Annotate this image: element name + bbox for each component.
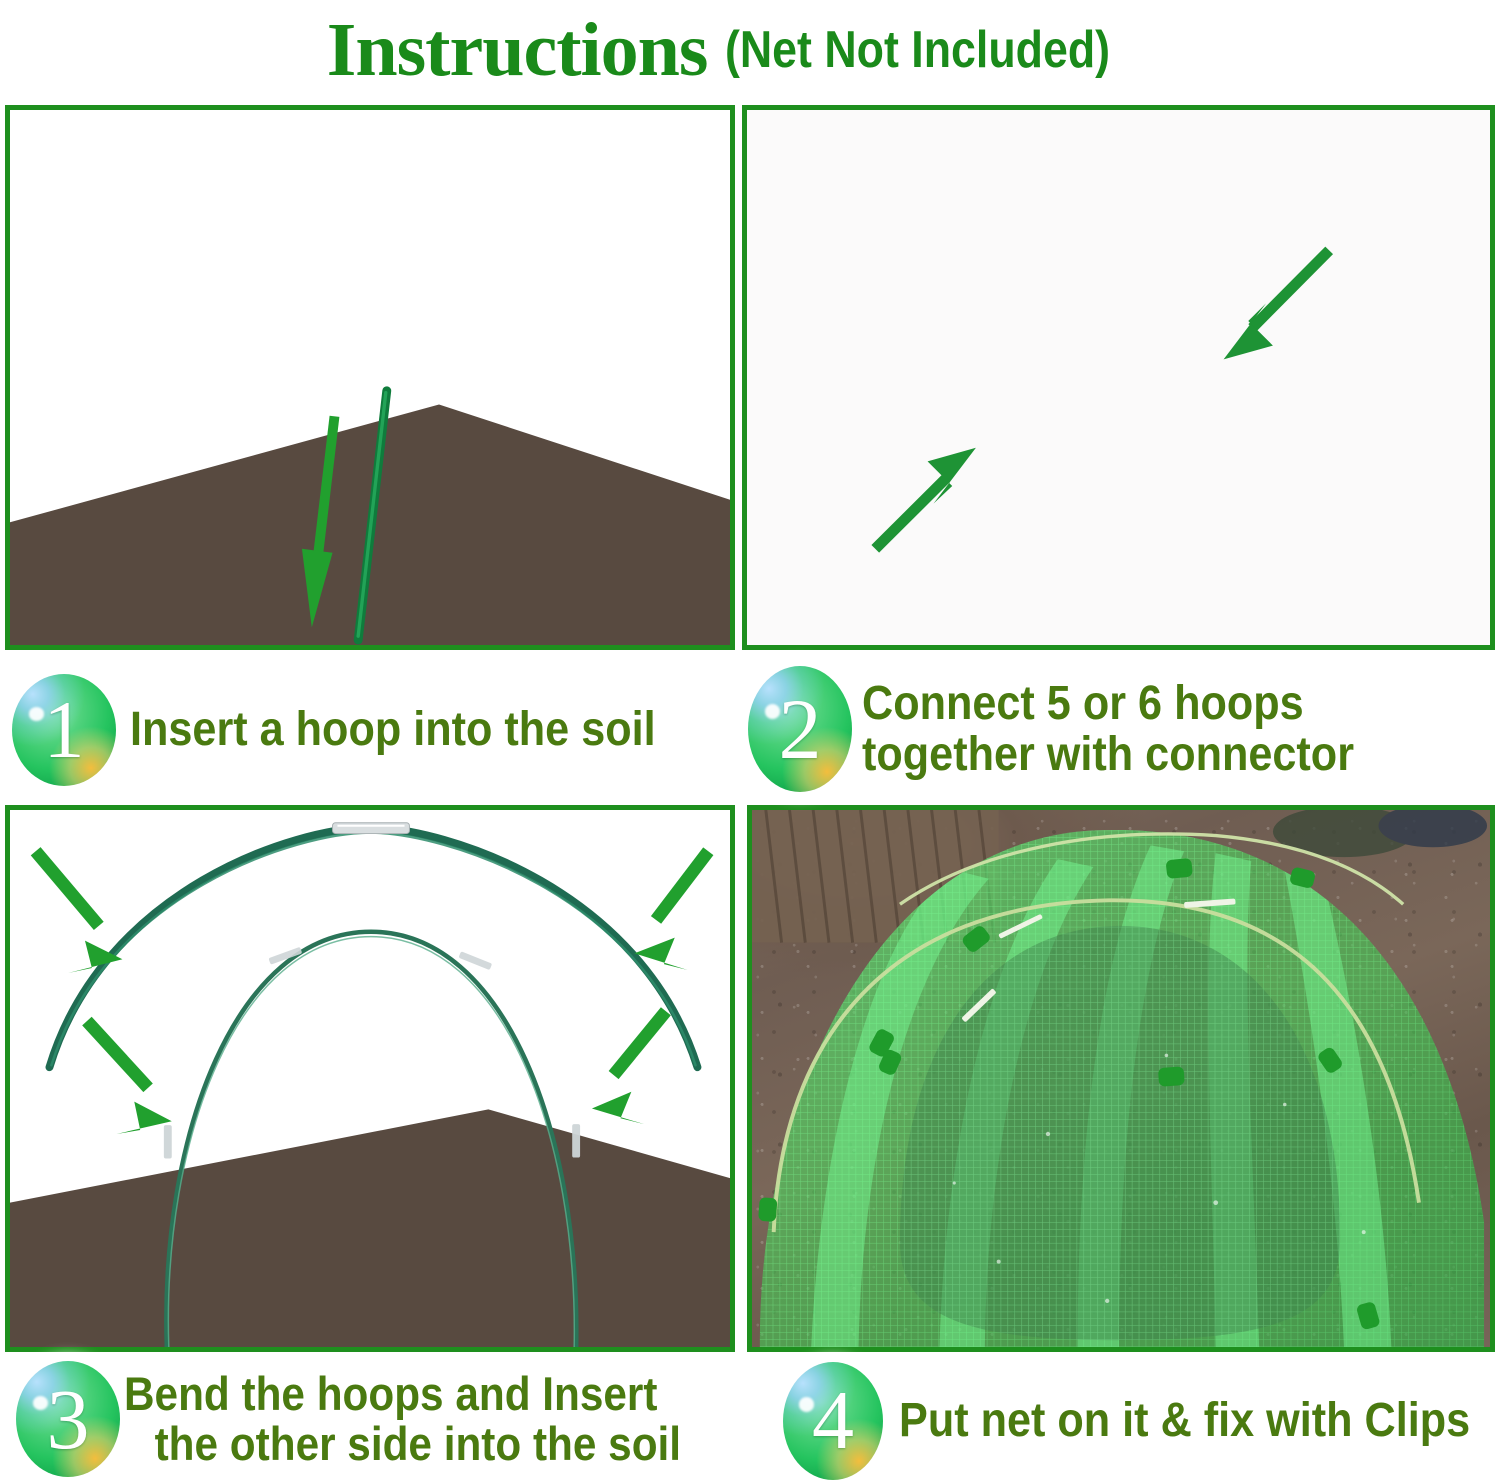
net-tunnel-graphic <box>752 810 1490 1347</box>
step-2-caption: 2 Connect 5 or 6 hoops together with con… <box>742 655 1498 803</box>
step-2-image-panel <box>742 105 1495 650</box>
caption-emphasis: or <box>1083 677 1126 730</box>
step-number-3: 3 <box>16 1361 120 1477</box>
green-rod-lower-left <box>747 559 749 645</box>
step-3-caption-text: Bend the hoops and Insert the other side… <box>124 1369 681 1470</box>
soil-mound <box>10 1109 730 1347</box>
arrow-top-right <box>634 851 708 970</box>
finished-net-tunnel-photo <box>752 810 1490 1347</box>
bend-hoops-illustration <box>10 810 730 1347</box>
arrow-down-left <box>1224 250 1330 359</box>
insert-hoop-into-soil-illustration <box>10 110 730 645</box>
background-foliage <box>1273 810 1487 857</box>
step-2-caption-line-2: together with connector <box>862 728 1354 781</box>
arrow-lower-left <box>87 1021 172 1134</box>
arrow-lower-right <box>592 1011 666 1124</box>
unbent-outer-hoop <box>49 823 697 1067</box>
arrow-up-right <box>875 448 976 549</box>
hoops-bending-graphic <box>10 810 730 1347</box>
silver-connector-tube <box>755 644 953 645</box>
step-number-4: 4 <box>783 1362 883 1480</box>
step-1-image-panel <box>5 105 735 650</box>
page-title: Instructions (Net Not Included) <box>0 0 1500 100</box>
step-3-image-panel <box>5 805 735 1352</box>
page-title-note: (Net Not Included) <box>725 24 1110 76</box>
connect-hoops-with-connector-photo <box>747 110 1490 645</box>
step-2-caption-line-1: Connect 5 or 6 hoops <box>862 677 1304 730</box>
step-4-caption-line-1: Put net on it & fix with Clips <box>899 1394 1470 1447</box>
arrow-top-left <box>36 851 123 973</box>
step-4-caption-text: Put net on it & fix with Clips <box>899 1395 1470 1446</box>
soil-and-rod-graphic <box>10 110 730 645</box>
step-badge-sphere-3: 3 <box>16 1361 120 1477</box>
step-1-caption-text: Insert a hoop into the soil <box>130 704 656 755</box>
connector-assembly-graphic <box>747 110 1490 645</box>
connector-sleeve <box>333 823 410 834</box>
clip <box>1166 858 1193 879</box>
step-badge-sphere-4: 4 <box>783 1362 883 1480</box>
clip <box>758 1197 777 1222</box>
step-1-caption-line-1: Insert a hoop into the soil <box>130 703 656 756</box>
step-1-caption: 1 Insert a hoop into the soil <box>6 662 736 797</box>
clip <box>1158 1066 1185 1086</box>
step-3-caption-line-1: Bend the hoops and Insert <box>124 1367 657 1420</box>
step-3-caption: 3 Bend the hoops and Insert the other si… <box>6 1358 736 1480</box>
step-4-image-panel <box>747 805 1495 1352</box>
page-title-main: Instructions <box>327 12 708 88</box>
step-2-caption-text: Connect 5 or 6 hoops together with conne… <box>862 678 1354 781</box>
step-3-caption-line-2: the other side into the soil <box>124 1419 681 1469</box>
step-4-caption: 4 Put net on it & fix with Clips <box>747 1362 1499 1480</box>
step-badge-sphere-1: 1 <box>12 674 116 786</box>
step-badge-sphere-2: 2 <box>748 666 852 792</box>
step-number-2: 2 <box>748 666 852 792</box>
step-number-1: 1 <box>12 674 116 786</box>
